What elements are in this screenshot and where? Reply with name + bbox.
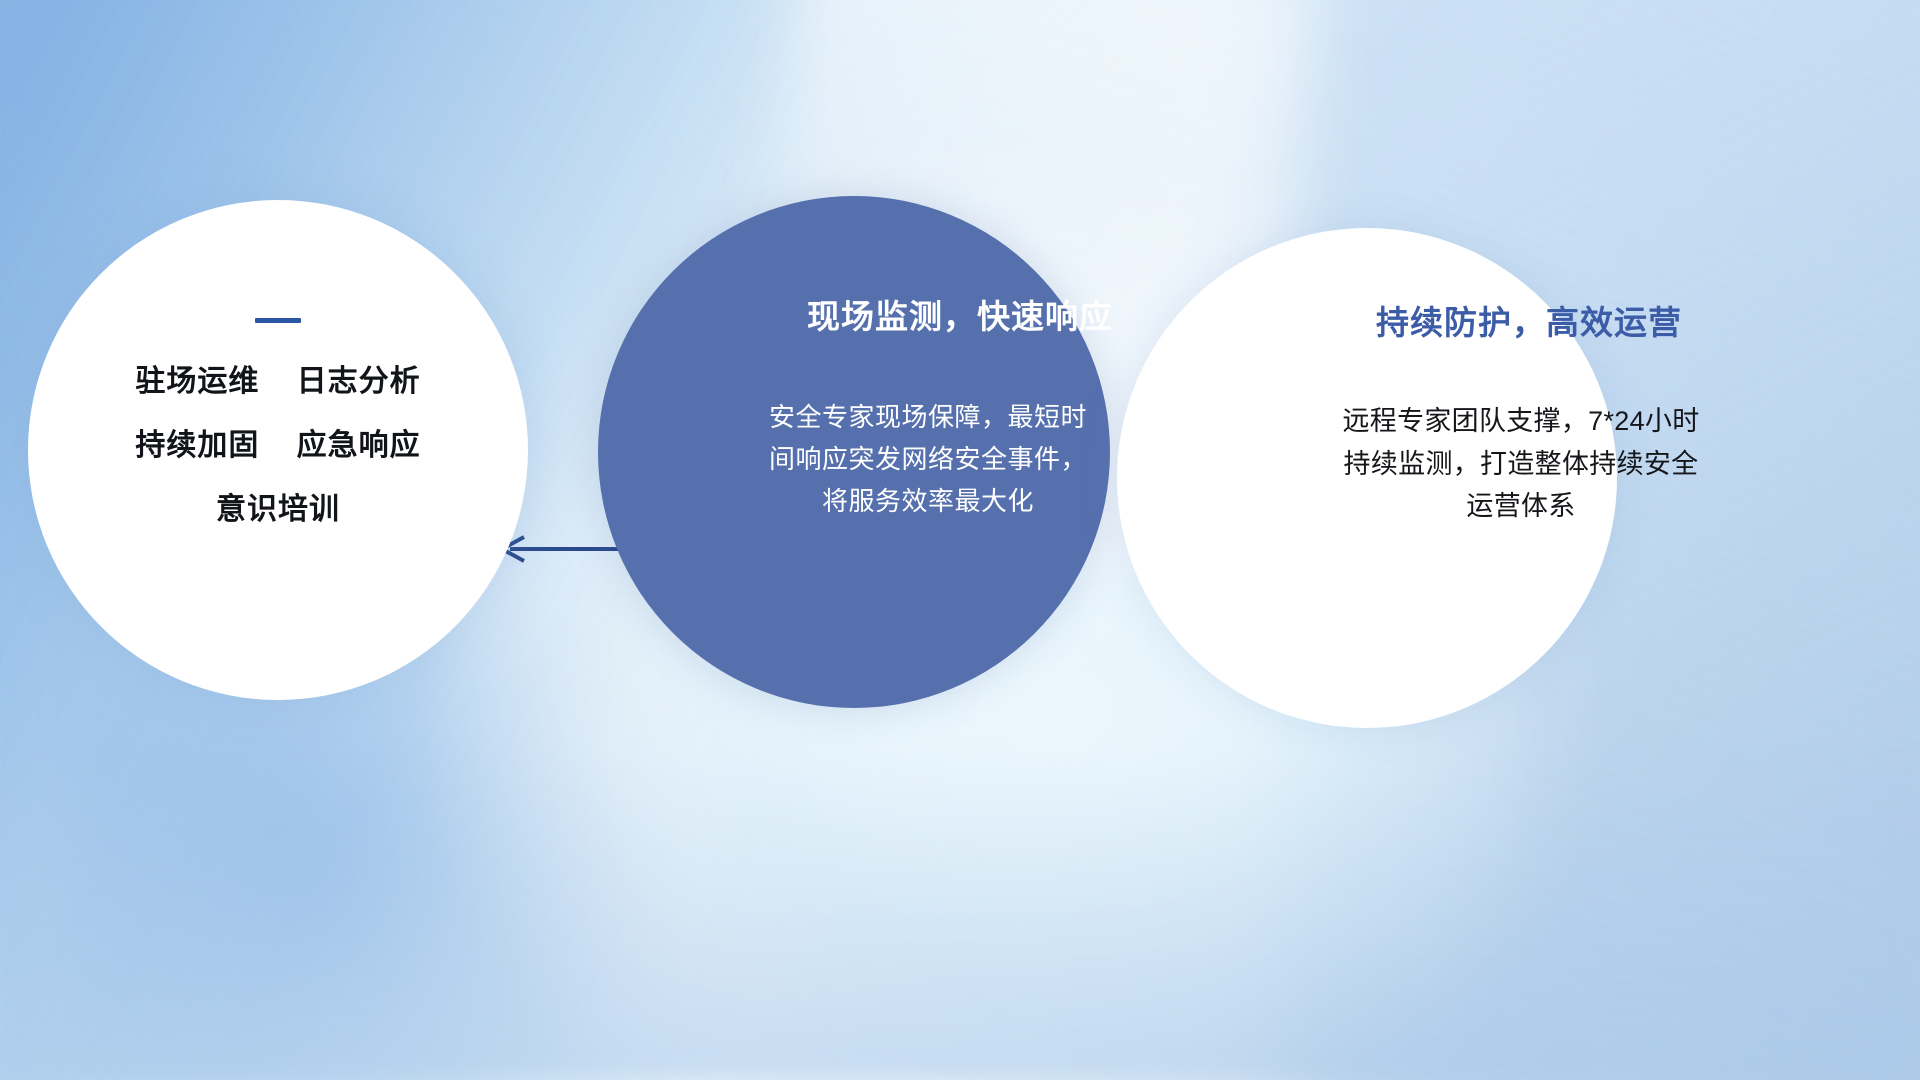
capability-line-3: 意识培训 <box>216 495 340 525</box>
slide-canvas: 驻场运维 日志分析 持续加固 应急响应 意识培训 现场监测，快速响应 安全专家现… <box>0 0 1920 1080</box>
capability-line-2: 持续加固 应急响应 <box>135 431 420 461</box>
dash-marker-icon <box>255 318 301 323</box>
onsite-monitoring-title: 现场监测，快速响应 <box>807 290 1113 338</box>
capability-circle-left[interactable]: 驻场运维 日志分析 持续加固 应急响应 意识培训 <box>28 200 528 700</box>
continuous-protection-title: 持续防护，高效运营 <box>1376 296 1682 344</box>
continuous-protection-body: 远程专家团队支撑，7*24小时持续监测，打造整体持续安全运营体系 <box>1337 400 1705 528</box>
capability-line-1: 驻场运维 日志分析 <box>135 367 420 397</box>
onsite-monitoring-body: 安全专家现场保障，最短时间响应突发网络安全事件，将服务效率最大化 <box>768 396 1088 522</box>
continuous-protection-circle[interactable]: 持续防护，高效运营 远程专家团队支撑，7*24小时持续监测，打造整体持续安全运营… <box>1117 228 1617 728</box>
onsite-monitoring-circle[interactable]: 现场监测，快速响应 安全专家现场保障，最短时间响应突发网络安全事件，将服务效率最… <box>598 196 1110 708</box>
background-bottom-fade <box>0 750 1920 1080</box>
